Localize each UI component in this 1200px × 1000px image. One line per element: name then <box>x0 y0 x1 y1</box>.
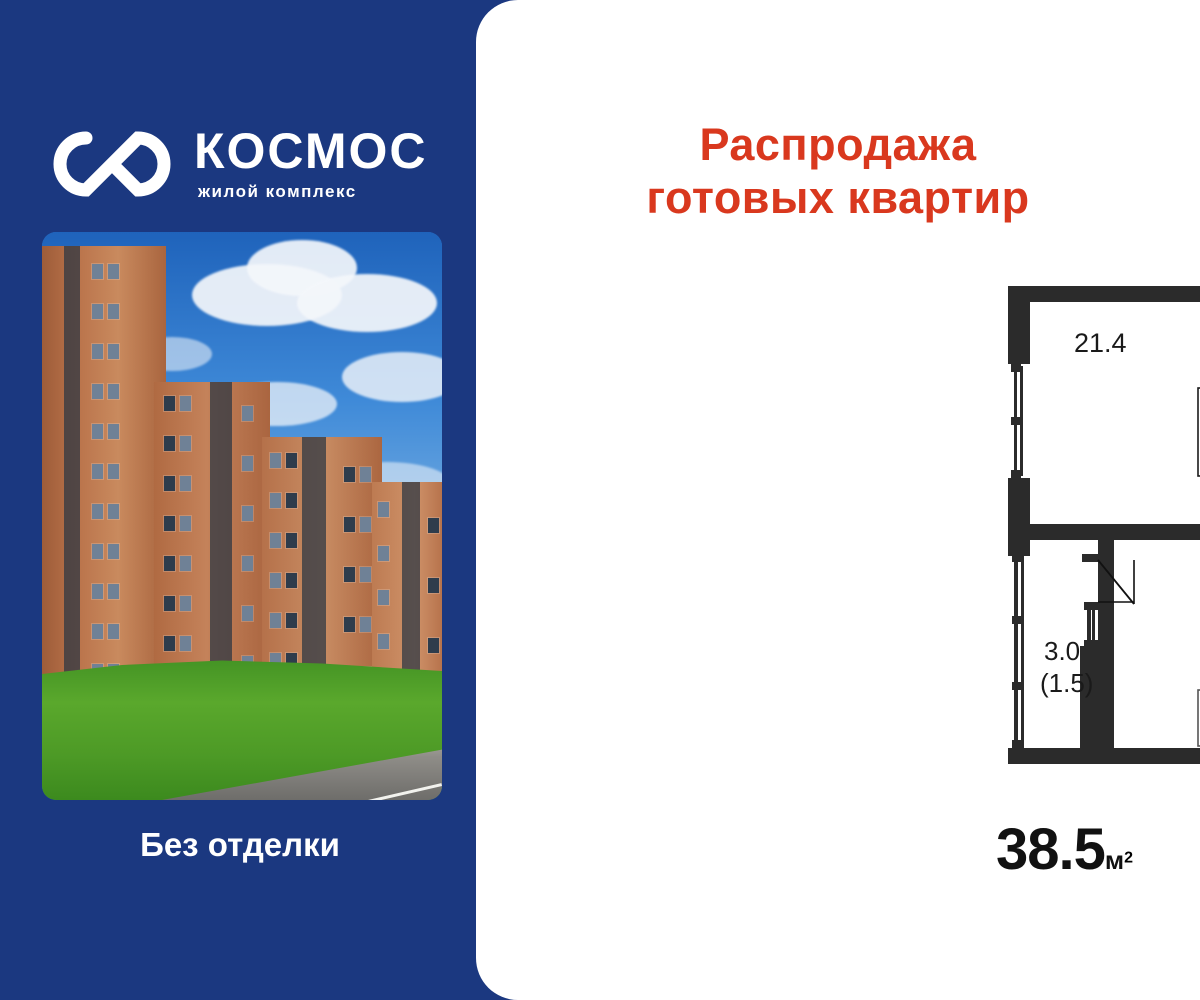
brand-name: КОСМОС <box>194 124 428 178</box>
window-living-room <box>1010 364 1030 478</box>
apartment-summary: 38.5м2 1комната 8этаж <box>974 812 1200 892</box>
summary-area-unit: м <box>1105 845 1124 875</box>
brand-tagline: жилой комплекс <box>198 182 357 202</box>
promo-headline-line1: Распродажа <box>476 118 1200 171</box>
infinity-loop-icon <box>50 128 180 200</box>
room-area-living: 21.4 <box>1074 328 1127 358</box>
cloud-shape <box>297 274 437 332</box>
room-area-balcony-counted: (1.5) <box>1040 668 1093 698</box>
brand-panel: КОСМОС жилой комплекс <box>0 0 480 1000</box>
floor-plan: 21.4 1 21.4 37.0 38.5 № 71 <box>1000 286 1200 764</box>
summary-area-unit-sup: 2 <box>1124 850 1133 867</box>
content-panel: Распродажа готовых квартир Циан <box>476 0 1200 1000</box>
brand-logo: КОСМОС жилой комплекс <box>48 120 448 215</box>
room-area-balcony: 3.0 <box>1044 636 1080 666</box>
building-tower-left <box>42 246 166 732</box>
summary-area: 38.5м2 <box>996 816 1133 883</box>
residential-complex-photo <box>42 232 442 800</box>
finish-type-caption: Без отделки <box>0 826 480 864</box>
summary-area-value: 38.5 <box>996 817 1105 882</box>
road-marking <box>266 783 442 800</box>
promo-headline: Распродажа готовых квартир <box>476 118 1200 224</box>
promo-headline-line2: готовых квартир <box>476 171 1200 224</box>
balcony-glazing <box>1012 554 1024 748</box>
